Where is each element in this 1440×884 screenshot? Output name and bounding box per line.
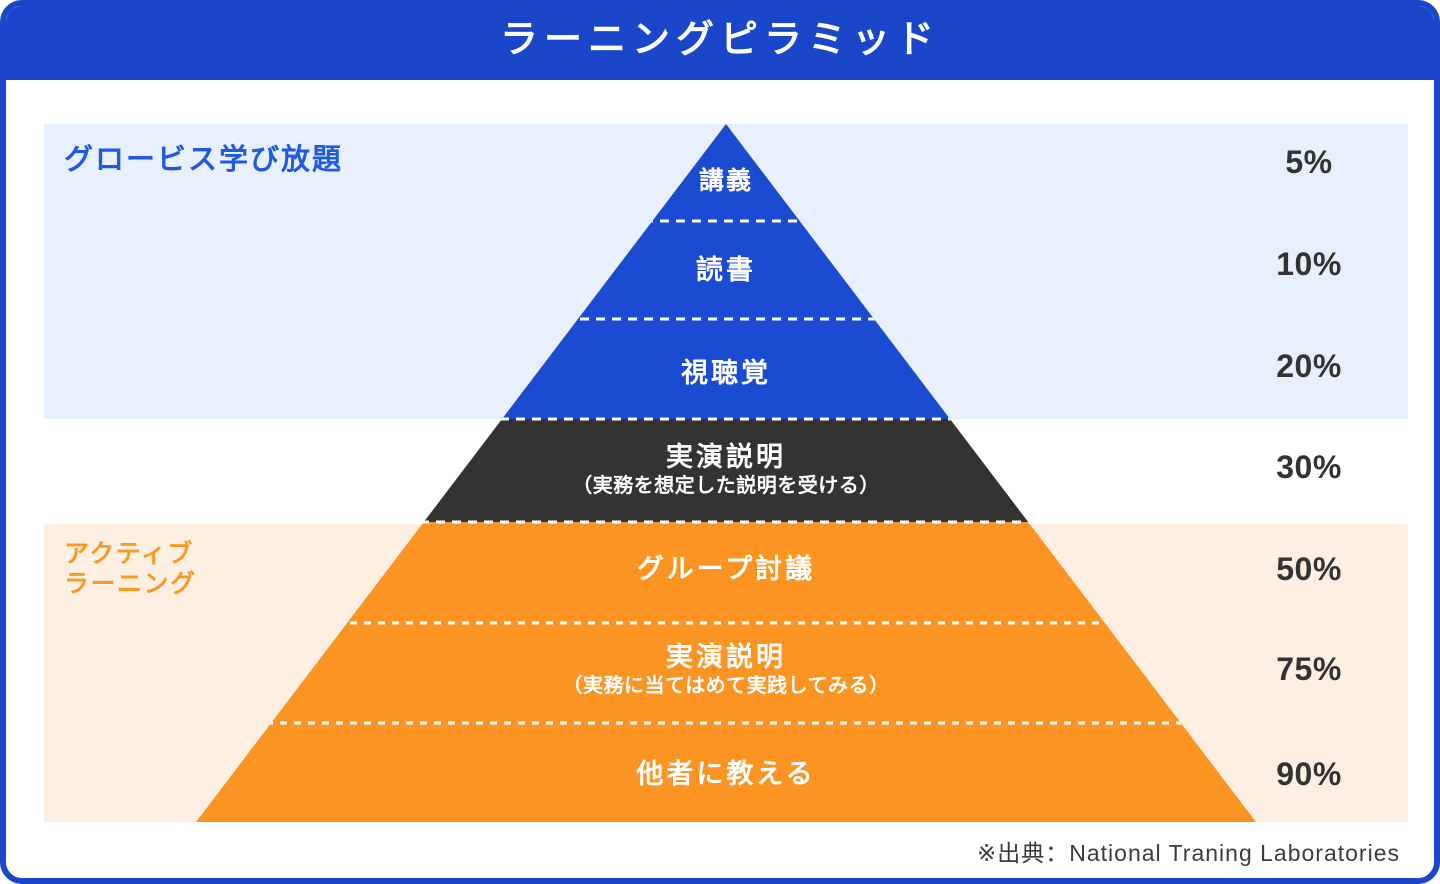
- band-label-globis: グロービス学び放題: [64, 143, 343, 177]
- page-title: ラーニングピラミッド: [500, 21, 940, 59]
- layer-subtitle-4: （実務を想定した説明を受ける）: [6, 475, 1440, 498]
- layer-title-4: 実演説明: [6, 442, 1440, 473]
- pyramid-layer-label-4: 実演説明 （実務を想定した説明を受ける）: [6, 442, 1440, 498]
- learning-pyramid-card: ラーニングピラミッド グロービス学び放題 アクティブ ラーニング: [0, 0, 1440, 884]
- percent-value-7: 90%: [1249, 756, 1369, 793]
- percent-value-1: 5%: [1249, 144, 1369, 181]
- band-label-active-learning: アクティブ ラーニング: [64, 540, 197, 599]
- percent-value-2: 10%: [1249, 246, 1369, 283]
- card-header: ラーニングピラミッド: [0, 0, 1440, 80]
- percent-value-4: 30%: [1249, 449, 1369, 486]
- percent-value-3: 20%: [1249, 348, 1369, 385]
- percent-value-5: 50%: [1249, 551, 1369, 588]
- source-note: ※出典：National Traning Laboratories: [977, 834, 1400, 868]
- band-active-learning: [44, 524, 1408, 822]
- percent-value-6: 75%: [1249, 651, 1369, 688]
